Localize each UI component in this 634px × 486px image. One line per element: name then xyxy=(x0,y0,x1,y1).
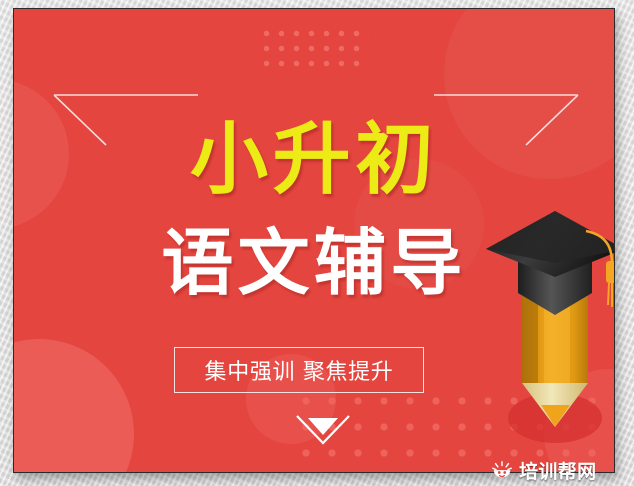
smiley-face-icon xyxy=(491,460,513,482)
blob-circle-bottom-left xyxy=(13,339,134,473)
dot-grid-top xyxy=(257,24,369,70)
watermark-text: 培训帮网 xyxy=(519,457,597,484)
poster-title-main: 小升初 xyxy=(14,121,614,199)
slogan-box: 集中强训 聚焦提升 xyxy=(174,347,424,393)
page-canvas: 小升初 语文辅导 集中强训 聚焦提升 xyxy=(0,0,634,486)
watermark: 培训帮网 xyxy=(485,457,603,484)
slogan-text: 集中强训 聚焦提升 xyxy=(205,354,394,386)
graduation-cap-pencil-illustration xyxy=(482,205,615,455)
chevron-down-icon xyxy=(295,413,351,447)
poster-banner: 小升初 语文辅导 集中强训 聚焦提升 xyxy=(13,8,615,473)
